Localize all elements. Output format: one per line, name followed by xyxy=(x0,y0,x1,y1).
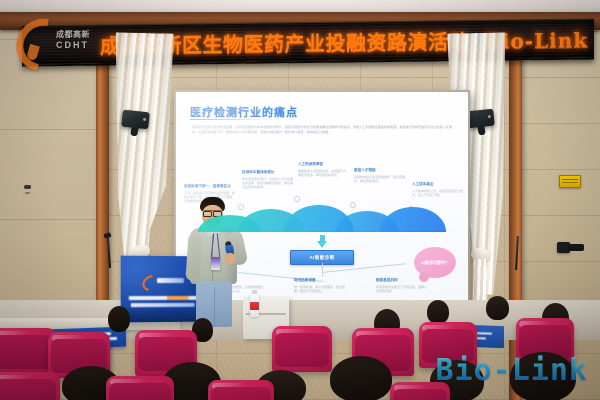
bottle-cap xyxy=(252,290,257,294)
wall-socket-icon xyxy=(557,242,570,253)
branch-stem-center xyxy=(322,263,323,277)
water-bottle-icon xyxy=(250,293,259,317)
podium-logo-text xyxy=(157,278,184,283)
node-heading: 检测样本量持续增长 xyxy=(242,170,294,175)
benefit-body: 统一判读标准，减少主观差异，提升结果一致性与可重复性。 xyxy=(294,285,346,293)
slide-body-text: 随着医疗检测行业的快速发展，检测项目数量与样本通量持续攀升，临床对报告时效性与结… xyxy=(192,125,452,134)
audience-seat[interactable] xyxy=(272,326,332,372)
presenter-glasses-icon xyxy=(203,211,222,215)
node-body: 依赖检验人员经验判读，主观差异大，重复劳动多，单份报告耗时长。 xyxy=(298,169,350,177)
pain-point-node: 基层人才短缺 基层机构缺乏资深检验技师，培养周期长，岗位流失率高。 xyxy=(354,168,406,183)
pain-point-node: 检测样本量持续增长 样本通量逐年攀升，实验室人力与设备负荷加重，报告周期被迫延长… xyxy=(242,170,294,189)
warning-label-icon xyxy=(559,175,581,188)
right-wall-speaker-icon xyxy=(466,109,495,129)
node-body: 样本通量逐年攀升，实验室人力与设备负荷加重，报告周期被迫延长，难以满足临床时效需… xyxy=(242,177,294,189)
question-speech-bubble: AI能否可替代？ xyxy=(414,247,456,278)
node-heading: 基层人才短缺 xyxy=(354,168,406,173)
audience-head xyxy=(108,306,130,332)
pain-point-node: 人工判读效率低 依赖检验人员经验判读，主观差异大，重复劳动多，单份报告耗时长。 xyxy=(298,162,350,177)
benefit-node: 降低结果误差 统一判读标准，减少主观差异，提升结果一致性与可重复性。 xyxy=(294,278,346,293)
audience-head-front xyxy=(330,356,392,400)
node-heading: 设备标准不统一，结果难互认 xyxy=(184,184,236,189)
slide-title: 医疗检测行业的痛点 xyxy=(190,104,298,120)
audience-head xyxy=(427,300,449,324)
audience-head xyxy=(486,296,509,320)
node-heading: 人工成本高企 xyxy=(412,182,464,187)
podium-logo xyxy=(142,276,184,286)
node-body: 人力成本持续上升，实验室运营压力加大，投入产出比下降。 xyxy=(412,189,464,197)
conference-photo-scene: 成都高新区生物医药产业投融资路演活动 Bio-Link 医疗检测行业的痛点 随着… xyxy=(0,0,600,400)
bottle-label xyxy=(250,302,259,310)
pain-point-node: 人工成本高企 人力成本持续上升，实验室运营压力加大，投入产出比下降。 xyxy=(412,182,464,197)
presenter-lanyard xyxy=(211,233,220,258)
node-body: 基层机构缺乏资深检验技师，培养周期长，岗位流失率高。 xyxy=(354,175,406,183)
biolink-watermark: Bio-Link xyxy=(436,353,589,388)
organizer-logo-watermark: 成都高新 CDHT xyxy=(16,17,108,61)
node-heading: 人工判读效率低 xyxy=(298,162,350,167)
presenter-badge xyxy=(211,257,220,270)
audience-seat-front[interactable] xyxy=(208,380,274,400)
logo-chinese-text: 成都高新 xyxy=(56,29,90,40)
logo-english-text: CDHT xyxy=(56,40,89,50)
left-wall-speaker-icon xyxy=(121,110,150,130)
audience-seat-front[interactable] xyxy=(106,376,174,400)
audience-seat-front[interactable] xyxy=(0,372,60,400)
benefit-heading: 降低结果误差 xyxy=(294,278,346,283)
benefit-body: 将专家级判读能力下沉到基层，缓解人才短缺问题。 xyxy=(376,285,428,293)
slide-title-rule xyxy=(190,119,276,120)
door-handle-icon[interactable] xyxy=(24,185,31,189)
